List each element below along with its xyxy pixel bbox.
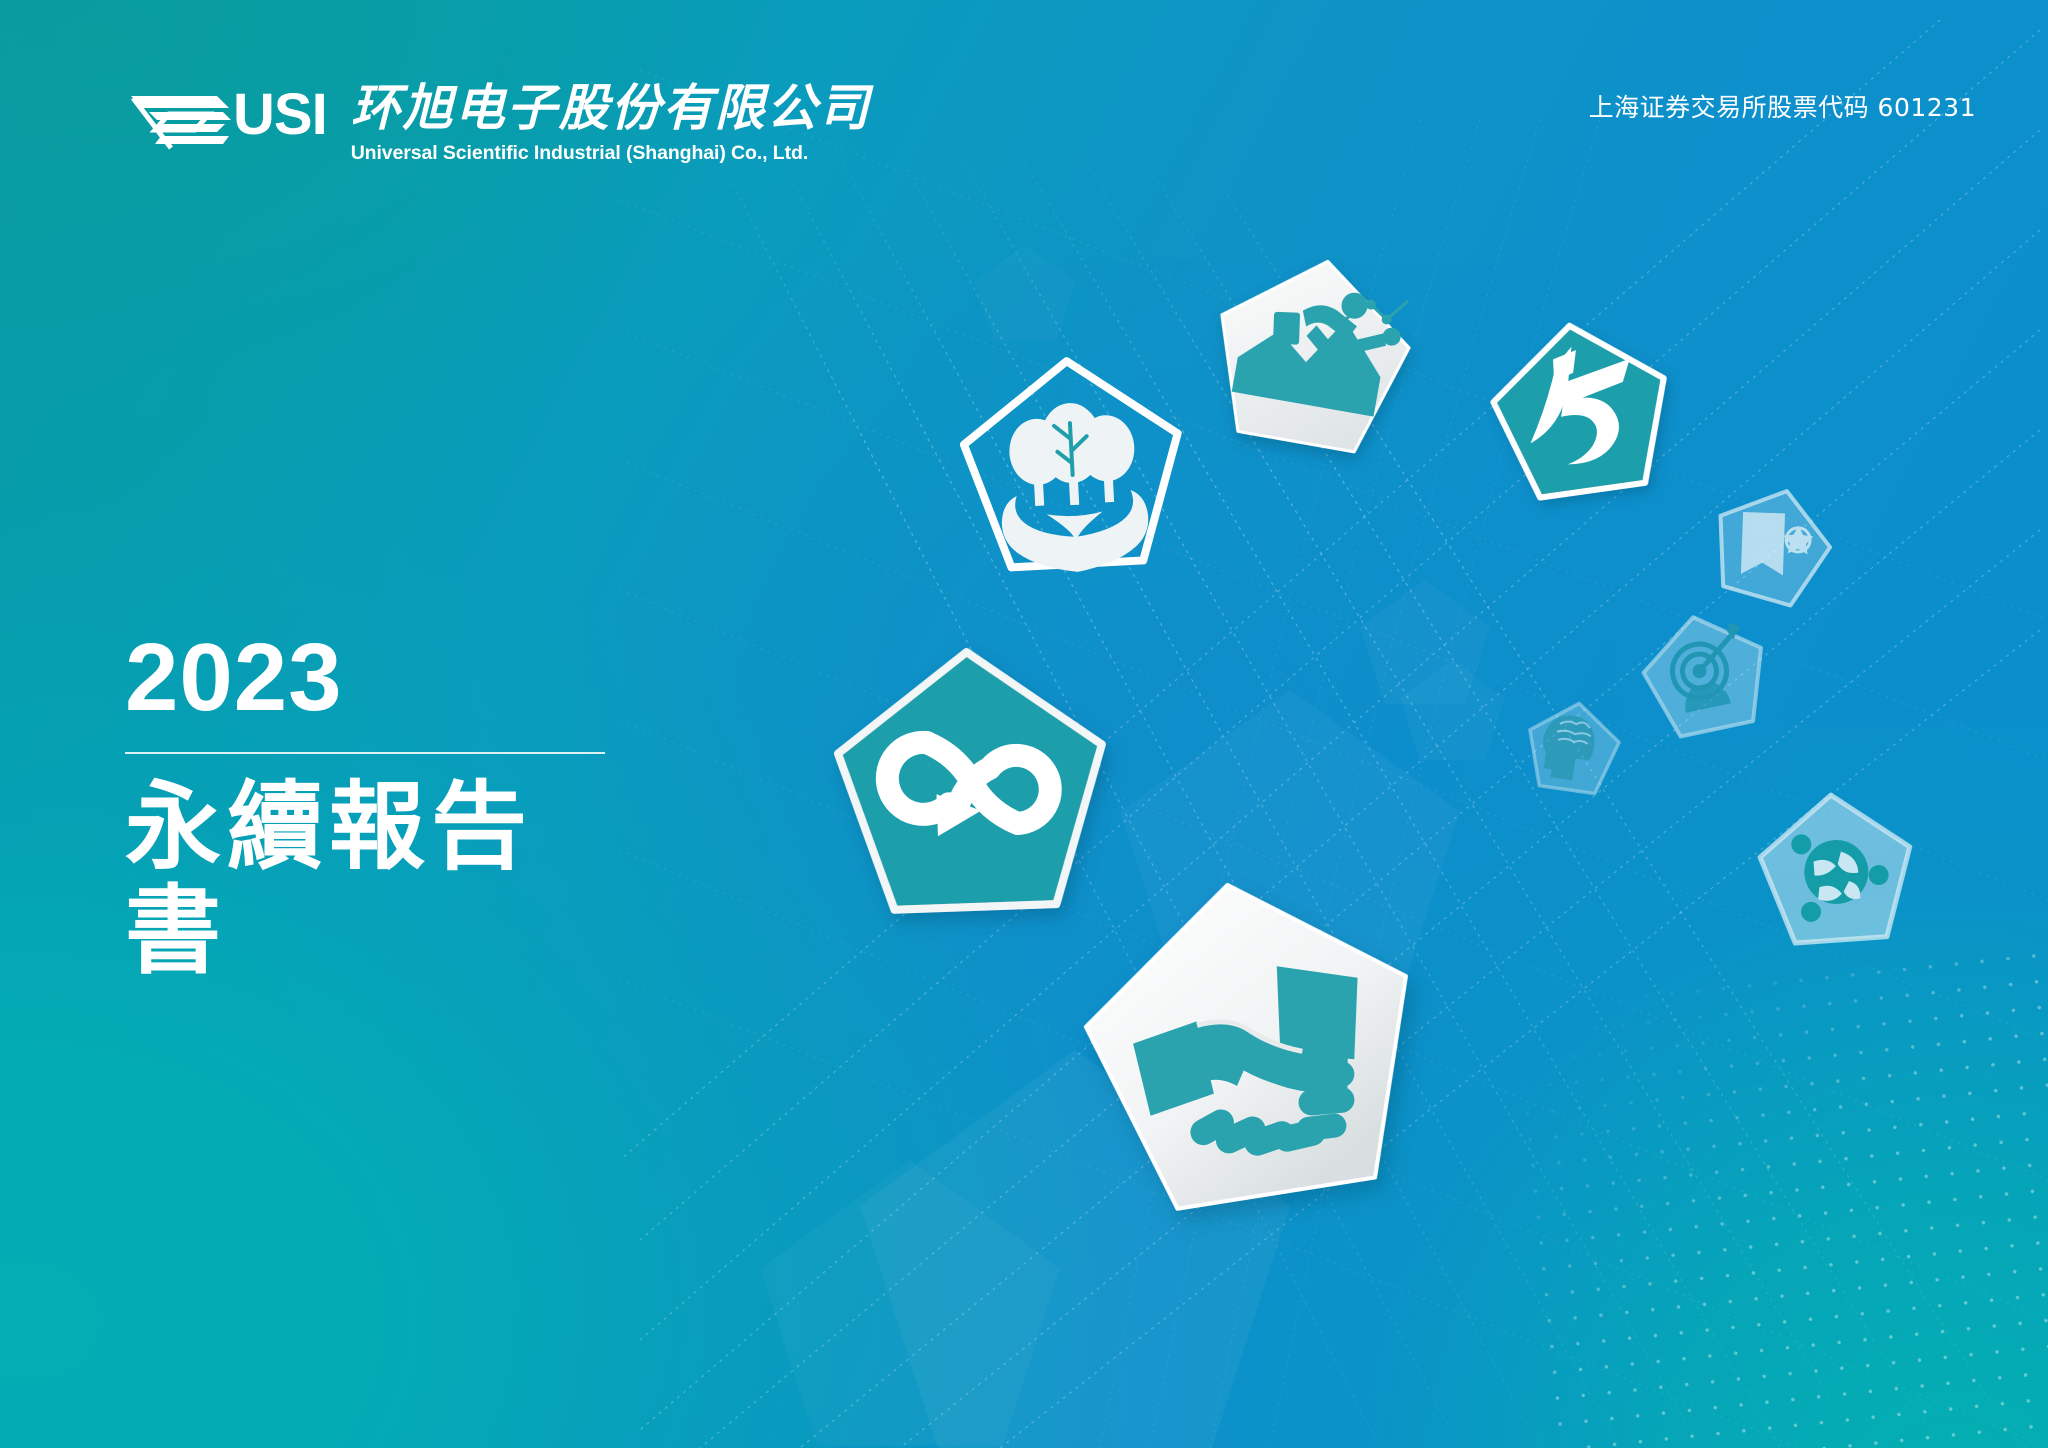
report-title: 永續報告書	[125, 776, 625, 983]
icon-pentagon-partnership	[1058, 850, 1445, 1229]
company-name-en: Universal Scientific Industrial (Shangha…	[351, 142, 871, 165]
report-year: 2023	[125, 630, 625, 726]
icon-pentagon-target	[1631, 600, 1780, 746]
icon-pentagon-community	[1751, 785, 1921, 951]
usi-logo: USI 环旭电子股份有限公司 Universal Scientific Indu…	[125, 82, 871, 165]
icon-pentagon-environment	[955, 349, 1191, 575]
cover-title-block: 2023 永續報告書	[125, 630, 625, 983]
usi-wordmark: USI	[233, 86, 327, 144]
icon-pentagon-brain	[1519, 694, 1627, 800]
company-name-cn: 环旭电子股份有限公司	[351, 82, 871, 135]
stock-code-label: 上海证券交易所股票代码 601231	[1589, 88, 1976, 124]
decor-dot-matrix	[1502, 940, 2048, 1448]
icon-pentagon-anniversary: 15	[1479, 308, 1684, 507]
report-cover-page: USI 环旭电子股份有限公司 Universal Scientific Indu…	[0, 0, 2048, 1448]
icon-pentagon-growth	[1197, 239, 1427, 463]
title-divider	[125, 752, 605, 754]
trees-in-hands-icon	[996, 399, 1151, 575]
icon-pentagon-circular-economy	[827, 640, 1114, 920]
usi-arrow-logo-icon	[125, 82, 237, 154]
page-header: USI 环旭电子股份有限公司 Universal Scientific Indu…	[0, 0, 2048, 220]
